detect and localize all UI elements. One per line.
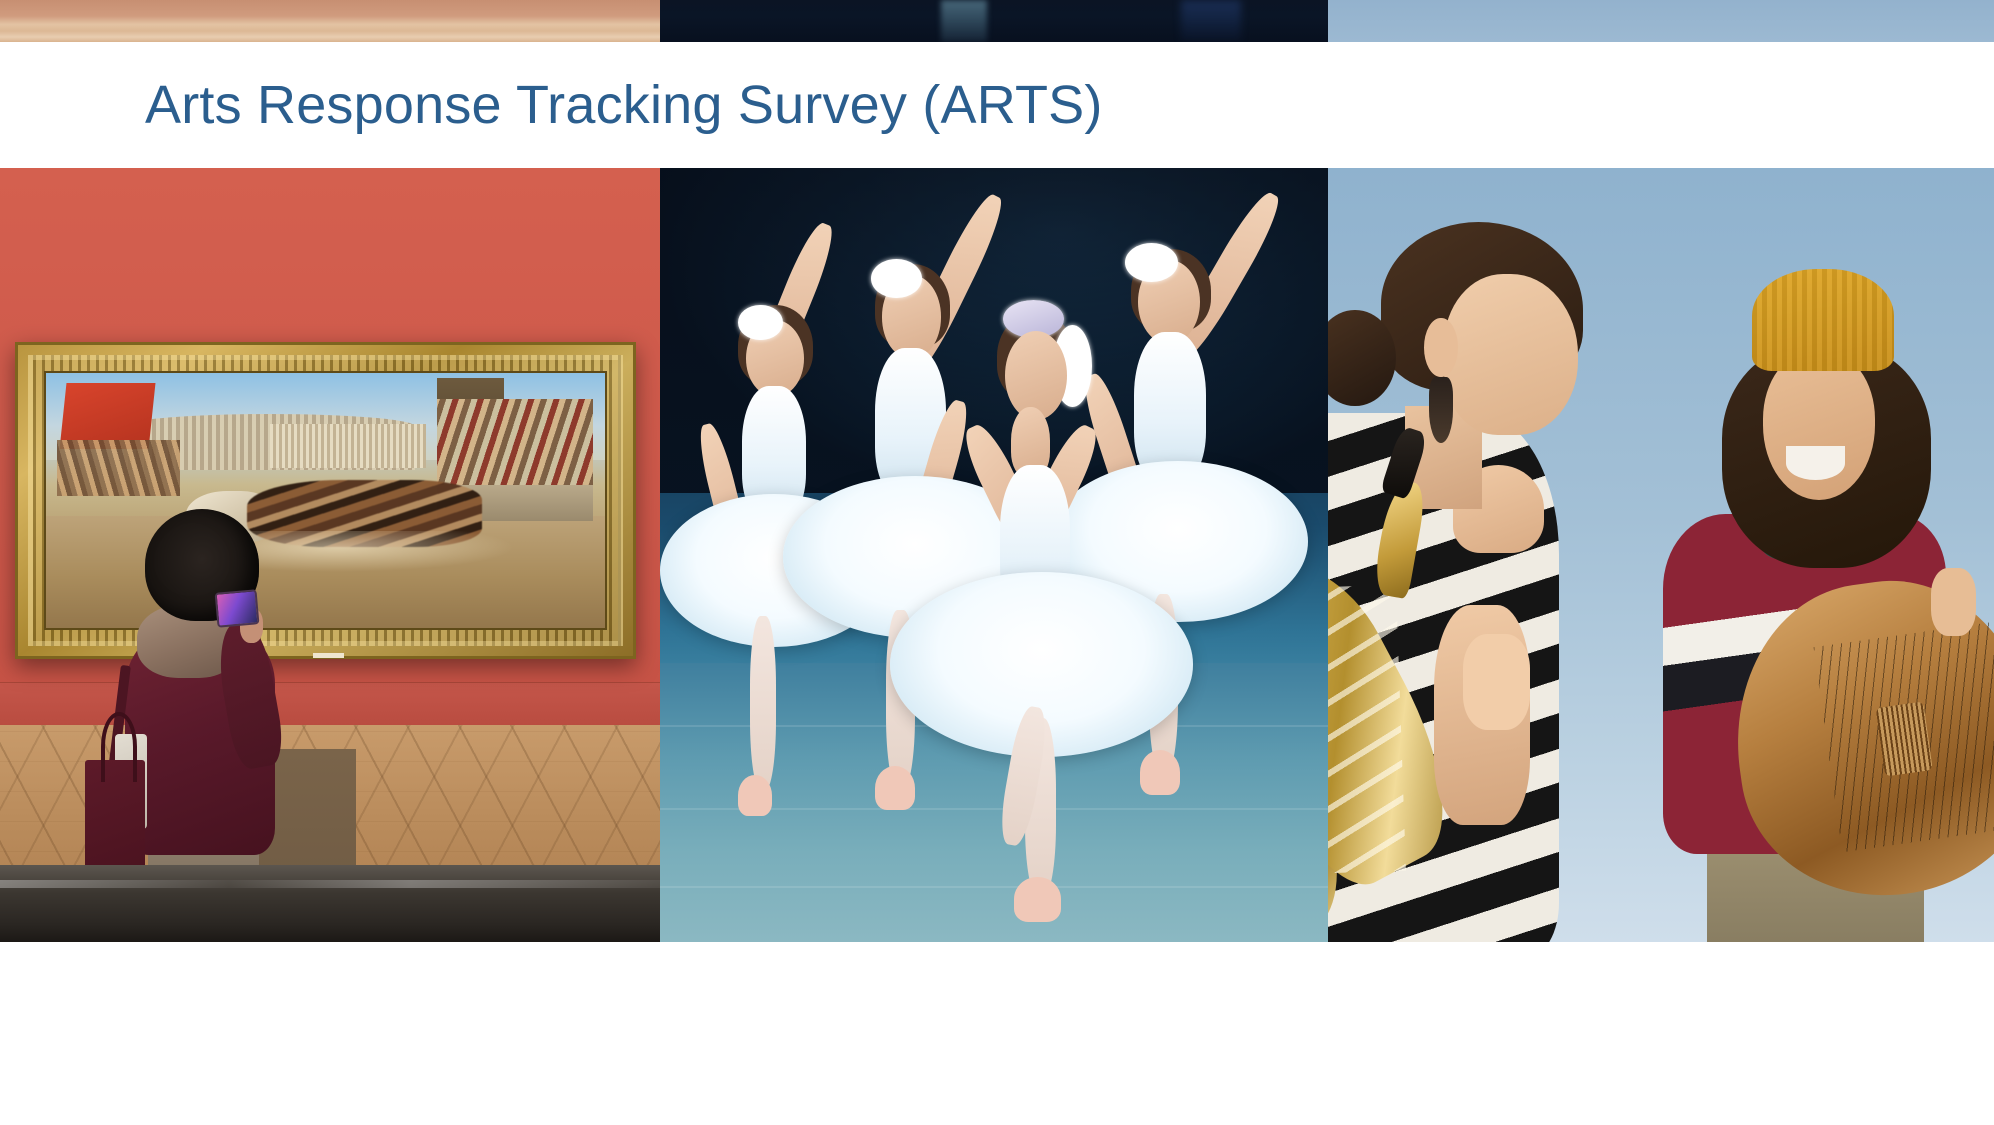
sax-player-hand [1463,634,1530,730]
title-band: Arts Response Tracking Survey (ARTS) [0,42,1994,168]
museum-visitor-photo [0,168,660,942]
yellow-beanie [1752,269,1894,371]
lute-player-smile [1786,446,1846,480]
top-strip-ballet [660,0,1328,42]
dancer-leg [750,616,776,790]
dancer-headpiece [871,259,922,298]
ballet-performance-photo [660,168,1328,942]
page-title: Arts Response Tracking Survey (ARTS) [145,74,1103,136]
lute-rosette [1876,702,1933,777]
lute-player-hand [1931,568,1976,636]
top-strip-museum [0,0,660,42]
wall-baseboard [0,683,660,726]
painting-right-crowd [437,399,593,491]
saxophone-mouthpiece [1380,425,1429,499]
painting-left-crowd [57,440,180,496]
frame-plaque [313,653,344,658]
smartphone-icon [214,589,258,627]
painting-stadium-stands-far [270,424,426,467]
pointe-shoe [1014,877,1062,921]
hero-image-row [0,168,1994,942]
street-musicians-photo [1328,168,1994,942]
saxophone-player [1328,222,1741,942]
top-strip-musicians [1328,0,1994,42]
top-image-strip [0,0,1994,42]
saxophone-keys [1328,585,1406,876]
sax-player-ear [1424,318,1458,377]
presentation-slide: Arts Response Tracking Survey (ARTS) [0,0,1994,1125]
dancer-head [1005,331,1067,420]
sax-player-face [1444,274,1578,436]
logo-footer: Business Arts n NANOS Founding ARTS Part… [0,942,1994,1125]
bench-highlight [0,880,660,888]
handbag-handle [101,712,137,781]
gallery-bench [0,865,660,942]
pointe-shoe [738,775,772,816]
lead-ballerina [907,300,1188,935]
dancer-headpiece [1125,243,1178,282]
